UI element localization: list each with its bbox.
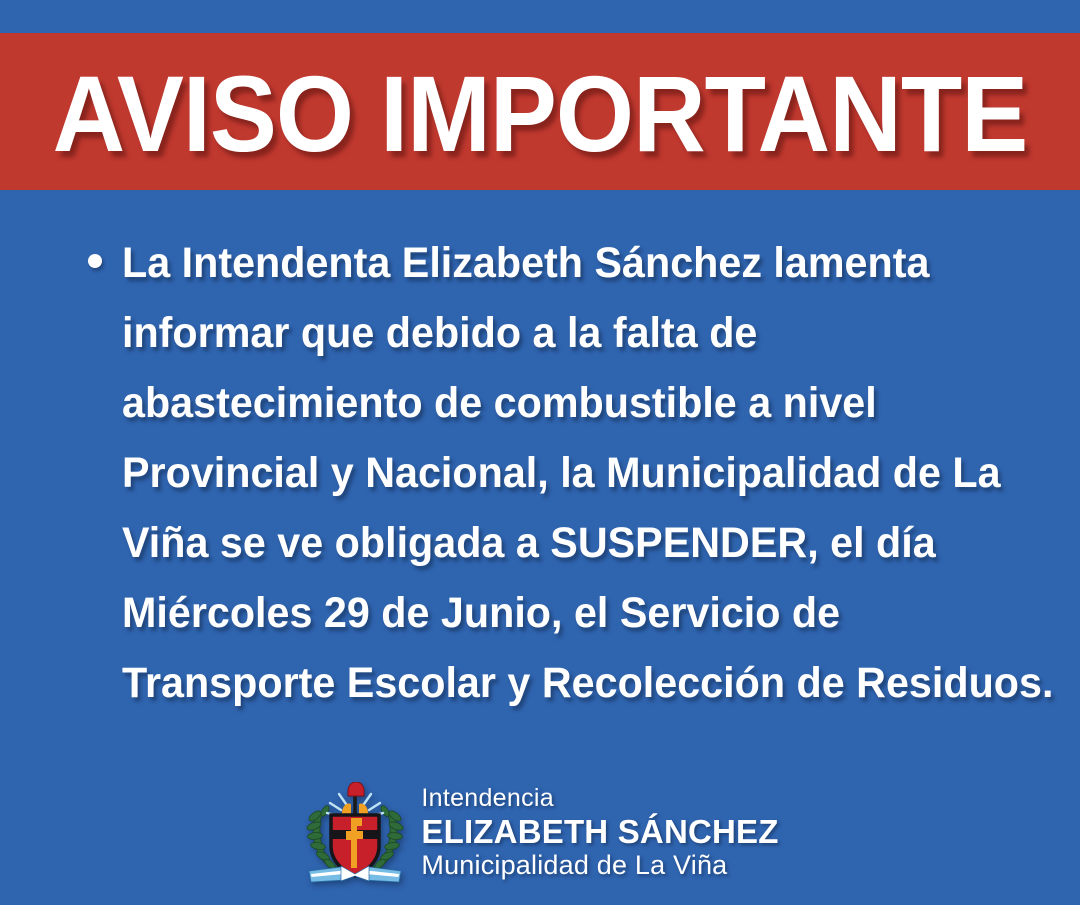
- body-line: abastecimiento de combustible a nivel: [122, 368, 1053, 438]
- announcement-body: La Intendenta Elizabeth Sánchez lamenta …: [88, 228, 1028, 718]
- body-lines: La Intendenta Elizabeth Sánchez lamenta …: [122, 228, 1080, 718]
- body-line: Provincial y Nacional, la Municipalidad …: [122, 438, 1053, 508]
- announcement-poster: AVISO IMPORTANTE La Intendenta Elizabeth…: [0, 0, 1080, 905]
- bullet-row: La Intendenta Elizabeth Sánchez lamenta …: [88, 228, 1028, 718]
- logo-line-municipality: Municipalidad de La Viña: [421, 852, 778, 879]
- body-line: La Intendenta Elizabeth Sánchez lamenta: [122, 228, 1053, 298]
- logo-lockup: Intendencia ELIZABETH SÁNCHEZ Municipali…: [0, 782, 1080, 887]
- body-line: informar que debido a la falta de: [122, 298, 1053, 368]
- logo-line-name: ELIZABETH SÁNCHEZ: [421, 815, 778, 848]
- body-line: Transporte Escolar y Recolección de Resi…: [122, 648, 1053, 718]
- logo-text-block: Intendencia ELIZABETH SÁNCHEZ Municipali…: [421, 786, 778, 883]
- coat-of-arms-icon: [301, 782, 409, 887]
- header-banner: AVISO IMPORTANTE: [0, 33, 1080, 190]
- page-title: AVISO IMPORTANTE: [53, 60, 1028, 168]
- body-line: Viña se ve obligada a SUSPENDER, el día: [122, 508, 1053, 578]
- body-line: Miércoles 29 de Junio, el Servicio de: [122, 578, 1053, 648]
- logo-line-intendencia: Intendencia: [421, 786, 778, 811]
- bullet-point-icon: [88, 254, 102, 268]
